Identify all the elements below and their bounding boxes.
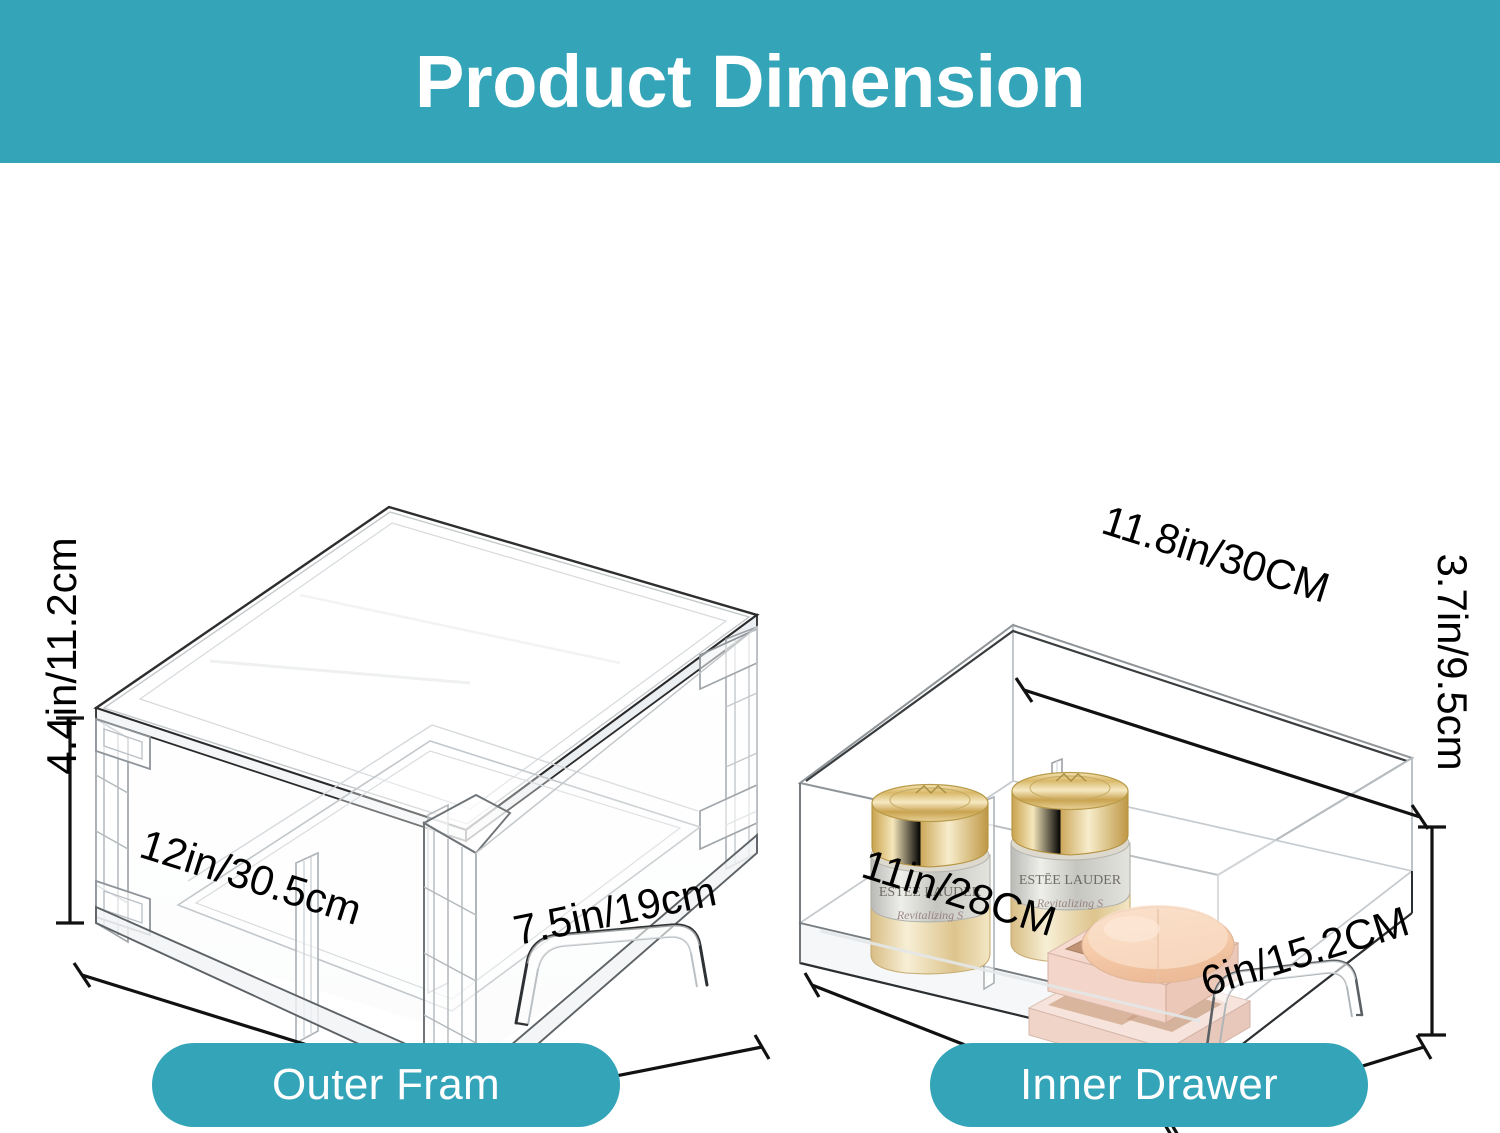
product-dimension-stage: ESTĒE LAUDER Revitalizing S ESTĒE LAUDER… [0, 163, 1500, 1133]
header-banner: Product Dimension [0, 0, 1500, 163]
product-illustrations: ESTĒE LAUDER Revitalizing S ESTĒE LAUDER… [0, 163, 1500, 1133]
svg-text:ESTĒE LAUDER: ESTĒE LAUDER [1019, 872, 1122, 888]
page-title: Product Dimension [415, 45, 1085, 119]
pill-label-outer-frame: Outer Fram [152, 1043, 620, 1127]
dim-label-drawer-height: 3.7in/9.5cm [1431, 532, 1473, 792]
dimline-drawer-height [1418, 827, 1446, 1035]
pill-label-inner-drawer: Inner Drawer [930, 1043, 1368, 1127]
dim-label-outer-height: 4.4in/11.2cm [41, 516, 83, 796]
